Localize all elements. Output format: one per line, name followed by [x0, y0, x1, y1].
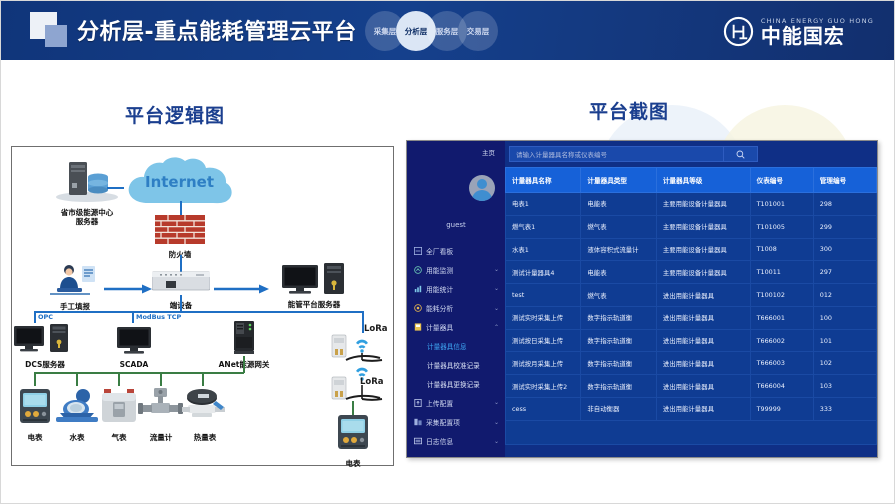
cell-mgmt-no: 297: [813, 261, 876, 284]
column-header-type[interactable]: 计量器具类型: [581, 168, 656, 193]
cell-meter-no: T666004: [750, 375, 813, 398]
cell-mgmt-no: 012: [813, 284, 876, 307]
cell-name: 测试实时采集上传: [506, 306, 581, 329]
architecture-diagram: Internet 省市级能源中心 服务器: [11, 146, 394, 466]
arrow-edge-to-platform: [214, 284, 269, 294]
node-firewall: 防火墙: [152, 215, 208, 259]
cell-grade: 进出用能计量器具: [656, 375, 750, 398]
sidebar-item-meters[interactable]: 计量器具 ⌃: [407, 318, 505, 337]
cell-grade: 进出用能计量器具: [656, 352, 750, 375]
cell-name: test: [506, 284, 581, 307]
cell-mgmt-no: 100: [813, 306, 876, 329]
cell-meter-no: T101005: [750, 215, 813, 238]
bus-main-line: [34, 311, 364, 313]
node-platform-server: 能管平台服务器: [274, 263, 354, 309]
cell-meter-no: T101001: [750, 193, 813, 216]
chevron-down-icon: ⌄: [494, 419, 499, 426]
sidebar-item-label: 日志信息: [426, 436, 490, 446]
scada-monitor-icon: [108, 325, 160, 355]
meter-icon: [414, 323, 422, 331]
meter-label-right: 电表: [330, 459, 376, 468]
cell-name: 燃气表1: [506, 215, 581, 238]
sidebar-item-statistics[interactable]: 用能统计 ⌄: [407, 279, 505, 298]
protocol-label-opc: OPC: [38, 313, 53, 321]
cell-grade: 主要用能设备计量器具: [656, 238, 750, 261]
search-bar: 请输入计量器具名称或仪表编号: [505, 141, 877, 167]
meter-node-4: 热量表: [180, 387, 230, 442]
cell-name: 测试实时采集上传2: [506, 375, 581, 398]
layer-circle-trade[interactable]: 交易层: [458, 11, 498, 51]
sidebar-subitem-meter-replacement[interactable]: 计量器具更换记录: [407, 375, 505, 394]
upload-icon: [414, 399, 422, 407]
sidebar-item-collect-config[interactable]: 采集配置项 ⌄: [407, 412, 505, 431]
meter-label-3: 流量计: [138, 433, 184, 442]
meter-label-0: 电表: [12, 433, 58, 442]
heat-meter-icon: [180, 387, 230, 427]
cell-mgmt-no: 298: [813, 193, 876, 216]
cell-name: 测试按月采集上传: [506, 352, 581, 375]
cell-type: 电能表: [581, 261, 656, 284]
page-header: 分析层-重点能耗管理云平台 采集层 分析层 服务层 交易层 CHINA ENER…: [1, 1, 895, 60]
sidebar-item-label: 用能统计: [426, 284, 490, 294]
brand-text: CHINA ENERGY GUO HONG 中能国宏: [761, 17, 874, 46]
link-edge-to-bus: [180, 295, 182, 312]
cell-grade: 进出用能计量器具: [656, 306, 750, 329]
cell-type: 数字指示轨道衡: [581, 352, 656, 375]
chevron-down-icon: ⌄: [494, 285, 499, 292]
search-button[interactable]: [724, 146, 758, 162]
sidebar-username: guest: [407, 221, 505, 229]
table-body: 电表1 电能表 主要用能设备计量器具 T101001 298 燃气表1 燃气表 …: [506, 193, 877, 421]
chevron-down-icon: ⌄: [494, 266, 499, 273]
sidebar-subitem-meter-calibration[interactable]: 计量器具校准记录: [407, 356, 505, 375]
node-dcs-server-label: DCS服务器: [12, 360, 78, 369]
platform-server-icon: [274, 263, 354, 295]
node-lora-1: LoRa: [330, 327, 392, 367]
brand-logo: CHINA ENERGY GUO HONG 中能国宏: [723, 11, 874, 51]
layer-circle-label: 服务层: [436, 26, 459, 37]
monitor-icon: [414, 266, 422, 274]
cell-type: 数字指示轨道衡: [581, 375, 656, 398]
sidebar-item-analysis[interactable]: 能耗分析 ⌄: [407, 299, 505, 318]
node-lora-2-label: LoRa: [360, 377, 384, 387]
meter-node-right: 电表: [330, 413, 376, 468]
avatar[interactable]: [469, 175, 495, 201]
logo-square-blue: [45, 25, 67, 47]
cell-grade: 进出用能计量器具: [656, 329, 750, 352]
sidebar-subitem-meter-info[interactable]: 计量器具信息: [407, 337, 505, 356]
table-row[interactable]: 测试实时采集上传 数字指示轨道衡 进出用能计量器具 T666001 100: [506, 306, 877, 329]
person-entry-icon: [40, 261, 110, 296]
layer-circle-label: 采集层: [374, 26, 397, 37]
table-row[interactable]: 测试计量器具4 电能表 主要用能设备计量器具 T10011 297: [506, 261, 877, 284]
cell-meter-no: T666003: [750, 352, 813, 375]
log-icon: [414, 437, 422, 445]
section-title-left: 平台逻辑图: [125, 101, 225, 128]
table-row[interactable]: 测试按日采集上传 数字指示轨道衡 进出用能计量器具 T666002 101: [506, 329, 877, 352]
sidebar-item-dashboard[interactable]: 全厂看板: [407, 241, 505, 260]
brand-chinese: 中能国宏: [761, 26, 874, 46]
green-drop-gateway: [243, 356, 245, 373]
green-drop-1: [34, 372, 36, 386]
chevron-up-icon: ⌃: [494, 324, 499, 331]
sidebar-item-monitor[interactable]: 用能监测 ⌄: [407, 260, 505, 279]
edge-device-icon: [152, 269, 210, 295]
cell-name: cess: [506, 398, 581, 421]
sidebar-item-label: 全厂看板: [426, 246, 499, 256]
green-drop-4: [160, 372, 162, 386]
app-sidebar: 主页 guest 全厂看板 用能监测 ⌄ 用能统计 ⌄: [407, 141, 505, 457]
cell-type: 数字指示轨道衡: [581, 306, 656, 329]
table-row[interactable]: 测试按月采集上传 数字指示轨道衡 进出用能计量器具 T666003 102: [506, 352, 877, 375]
layer-circles: 采集层 分析层 服务层 交易层: [365, 11, 505, 51]
node-lora-1-label: LoRa: [364, 324, 388, 334]
node-province-server-label-2: 服务器: [47, 217, 127, 226]
cell-mgmt-no: 333: [813, 398, 876, 421]
column-header-mgmt-no[interactable]: 管理编号: [813, 168, 876, 193]
cell-meter-no: T10011: [750, 261, 813, 284]
gateway-icon: [208, 321, 280, 355]
cell-grade: 主要用能设备计量器具: [656, 193, 750, 216]
avatar-body: [472, 190, 492, 201]
slide-root: 分析层-重点能耗管理云平台 采集层 分析层 服务层 交易层 CHINA ENER…: [0, 0, 895, 504]
bus-drop-opc: [34, 311, 36, 323]
sidebar-item-label: 能耗分析: [426, 303, 490, 313]
meter-label-2: 气表: [96, 433, 142, 442]
meter-node-0: 电表: [12, 387, 58, 442]
green-drop-2: [76, 372, 78, 386]
dcs-server-icon: [12, 323, 78, 355]
cell-mgmt-no: 103: [813, 375, 876, 398]
layer-circle-label: 交易层: [467, 26, 490, 37]
app-main: 请输入计量器具名称或仪表编号 计量器具名称 计量器具类型 计量器具等: [505, 141, 877, 457]
chevron-down-icon: ⌄: [494, 305, 499, 312]
column-header-meter-no[interactable]: 仪表编号: [750, 168, 813, 193]
node-manual-entry-label: 手工填报: [40, 302, 110, 311]
cell-type: 燃气表: [581, 284, 656, 307]
flow-meter-icon: [138, 387, 184, 427]
electric-meter-icon: [330, 413, 376, 453]
node-platform-server-label: 能管平台服务器: [274, 300, 354, 309]
green-drop-3: [118, 372, 120, 386]
sidebar-item-label: 上传配置: [426, 398, 490, 408]
cell-grade: 进出用能计量器具: [656, 398, 750, 421]
sidebar-item-label: 用能监测: [426, 265, 490, 275]
table-row[interactable]: 燃气表1 燃气表 主要用能设备计量器具 T101005 299: [506, 215, 877, 238]
table-row[interactable]: 水表1 液体容积式流量计 主要用能设备计量器具 T1008 300: [506, 238, 877, 261]
sidebar-item-label: 计量器具: [426, 322, 490, 332]
cell-type: 数字指示轨道衡: [581, 329, 656, 352]
meters-table: 计量器具名称 计量器具类型 计量器具等级 仪表编号 管理编号 电表1 电能表 主…: [505, 167, 877, 421]
water-meter-icon: [54, 387, 100, 427]
column-header-grade[interactable]: 计量器具等级: [656, 168, 750, 193]
cell-meter-no: T100102: [750, 284, 813, 307]
cell-meter-no: T666002: [750, 329, 813, 352]
cell-type: 电能表: [581, 193, 656, 216]
cell-meter-no: T99999: [750, 398, 813, 421]
node-province-server: 省市级能源中心 服务器: [47, 155, 127, 227]
cell-mgmt-no: 300: [813, 238, 876, 261]
cell-type: 非自动衡器: [581, 398, 656, 421]
table-header-row: 计量器具名称 计量器具类型 计量器具等级 仪表编号 管理编号: [506, 168, 877, 193]
table-row[interactable]: test 燃气表 进出用能计量器具 T100102 012: [506, 284, 877, 307]
cell-mgmt-no: 102: [813, 352, 876, 375]
electric-meter-icon: [12, 387, 58, 427]
table-footer: [505, 421, 877, 445]
platform-screenshot: 主页 guest 全厂看板 用能监测 ⌄ 用能统计 ⌄: [406, 140, 878, 458]
cell-mgmt-no: 299: [813, 215, 876, 238]
sidebar-item-logs[interactable]: 日志信息 ⌄: [407, 432, 505, 451]
layer-circle-label: 分析层: [405, 26, 428, 37]
green-drop-5: [202, 372, 204, 386]
node-manual-entry: 手工填报: [40, 261, 110, 311]
search-input[interactable]: 请输入计量器具名称或仪表编号: [509, 146, 724, 162]
gas-meter-icon: [96, 387, 142, 427]
sidebar-home-link[interactable]: 主页: [407, 147, 505, 157]
green-bus-line: [34, 372, 244, 374]
chevron-down-icon: ⌄: [494, 399, 499, 406]
section-title-right: 平台截图: [589, 97, 669, 124]
cell-type: 液体容积式流量计: [581, 238, 656, 261]
chevron-down-icon: ⌄: [494, 438, 499, 445]
meter-label-4: 热量表: [180, 433, 230, 442]
search-icon: [736, 150, 745, 159]
node-scada-label: SCADA: [108, 360, 160, 369]
cell-name: 测试计量器具4: [506, 261, 581, 284]
dashboard-icon: [414, 247, 422, 255]
table-row[interactable]: cess 非自动衡器 进出用能计量器具 T99999 333: [506, 398, 877, 421]
firewall-icon: [152, 215, 208, 245]
link-province-to-internet: [107, 187, 124, 189]
cell-grade: 进出用能计量器具: [656, 284, 750, 307]
cell-name: 水表1: [506, 238, 581, 261]
cell-meter-no: T1008: [750, 238, 813, 261]
brand-emblem-icon: [723, 16, 754, 47]
protocol-label-modbus: ModBus TCP: [136, 313, 181, 321]
avatar-head: [477, 179, 487, 189]
table-row[interactable]: 电表1 电能表 主要用能设备计量器具 T101001 298: [506, 193, 877, 216]
node-dcs-server: DCS服务器: [12, 323, 78, 369]
cell-name: 测试按日采集上传: [506, 329, 581, 352]
meter-node-3: 流量计: [138, 387, 184, 442]
node-lora-2: LoRa: [330, 365, 392, 405]
server-database-icon: [47, 155, 127, 203]
meter-node-2: 气表: [96, 387, 142, 442]
sidebar-item-label: 采集配置项: [426, 417, 490, 427]
cell-meter-no: T666001: [750, 306, 813, 329]
sidebar-item-upload-config[interactable]: 上传配置 ⌄: [407, 393, 505, 412]
arrow-manual-to-edge: [104, 284, 152, 294]
cell-grade: 主要用能设备计量器具: [656, 261, 750, 284]
cell-type: 燃气表: [581, 215, 656, 238]
table-head: 计量器具名称 计量器具类型 计量器具等级 仪表编号 管理编号: [506, 168, 877, 193]
column-header-name[interactable]: 计量器具名称: [506, 168, 581, 193]
table-row[interactable]: 测试实时采集上传2 数字指示轨道衡 进出用能计量器具 T666004 103: [506, 375, 877, 398]
meter-label-1: 水表: [54, 433, 100, 442]
page-title: 分析层-重点能耗管理云平台: [77, 14, 357, 46]
cell-mgmt-no: 101: [813, 329, 876, 352]
bus-drop-modbus: [132, 311, 134, 323]
meter-node-1: 水表: [54, 387, 100, 442]
cell-grade: 主要用能设备计量器具: [656, 215, 750, 238]
cell-name: 电表1: [506, 193, 581, 216]
chart-icon: [414, 285, 422, 293]
collect-icon: [414, 418, 422, 426]
analysis-icon: [414, 304, 422, 312]
node-scada: SCADA: [108, 325, 160, 369]
node-province-server-label-1: 省市级能源中心: [49, 208, 125, 217]
